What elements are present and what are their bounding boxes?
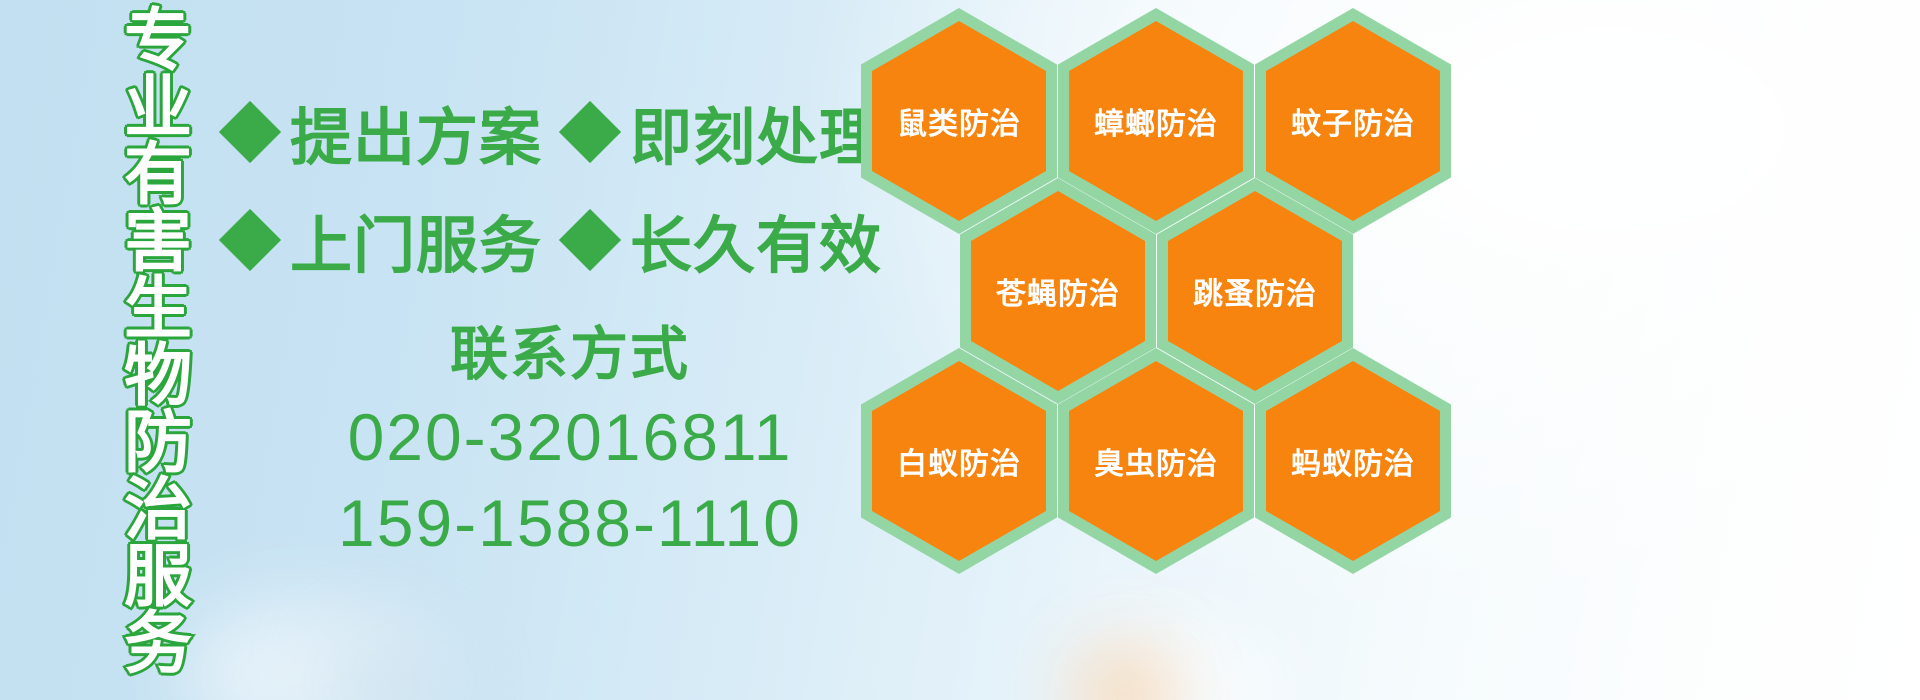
hex-label: 蟑螂防治 [1094,99,1218,143]
feature-item-long-lasting: 长久有效 [568,195,882,285]
hex-label: 跳蚤防治 [1193,269,1317,313]
background-blob-left [180,600,440,700]
promotional-banner: 专 业 有 害 生 物 防 治 服 务 提出方案 即刻处理 上门服务 [0,0,1920,700]
feature-label: 长久有效 [630,195,882,285]
contact-phone-mobile[interactable]: 159-1588-1110 [300,480,840,566]
contact-phone-landline[interactable]: 020-32016811 [300,394,840,480]
vertical-title: 专 业 有 害 生 物 防 治 服 务 [104,8,212,688]
feature-item-immediate-handling: 即刻处理 [568,87,882,177]
hex-inner: 鼠类防治 [872,21,1046,221]
diamond-bullet-icon [219,101,281,163]
diamond-bullet-icon [219,209,281,271]
hex-label: 臭虫防治 [1094,439,1218,483]
hex-label: 鼠类防治 [897,99,1021,143]
vertical-title-char: 服 [124,544,192,611]
feature-row: 提出方案 即刻处理 [228,78,868,186]
diamond-bullet-icon [559,101,621,163]
feature-label: 上门服务 [290,195,542,285]
feature-label: 即刻处理 [630,87,882,177]
hex-inner: 蚂蚁防治 [1266,361,1440,561]
hex-label: 蚂蚁防治 [1291,439,1415,483]
feature-list: 提出方案 即刻处理 上门服务 长久有效 [228,78,868,294]
hex-inner: 蚊子防治 [1266,21,1440,221]
vertical-title-char: 务 [124,611,192,678]
background-blob-left-small [330,640,450,700]
hex-label: 蚊子防治 [1291,99,1415,143]
vertical-title-char: 业 [124,75,192,142]
hex-label: 苍蝇防治 [996,269,1120,313]
feature-label: 提出方案 [290,87,542,177]
vertical-title-char: 生 [124,276,192,343]
feature-item-propose-plan: 提出方案 [228,87,542,177]
vertical-title-char: 治 [124,477,192,544]
contact-block: 联系方式 020-32016811 159-1588-1110 [300,316,840,566]
service-honeycomb: 鼠类防治 蟑螂防治 蚊子防治 苍蝇防治 跳蚤防治 白蚁防治 [855,0,1495,700]
feature-row: 上门服务 长久有效 [228,186,868,294]
vertical-title-char: 害 [124,209,192,276]
vertical-title-char: 有 [124,142,192,209]
contact-title: 联系方式 [300,316,840,394]
hex-inner: 白蚁防治 [872,361,1046,561]
vertical-title-char: 防 [124,410,192,477]
vertical-title-char: 专 [124,8,192,75]
hex-label: 白蚁防治 [897,439,1021,483]
hex-inner: 蟑螂防治 [1069,21,1243,221]
feature-item-onsite-service: 上门服务 [228,195,542,285]
hex-inner: 臭虫防治 [1069,361,1243,561]
hex-inner: 跳蚤防治 [1168,191,1342,391]
diamond-bullet-icon [559,209,621,271]
vertical-title-char: 物 [124,343,192,410]
hex-inner: 苍蝇防治 [971,191,1145,391]
